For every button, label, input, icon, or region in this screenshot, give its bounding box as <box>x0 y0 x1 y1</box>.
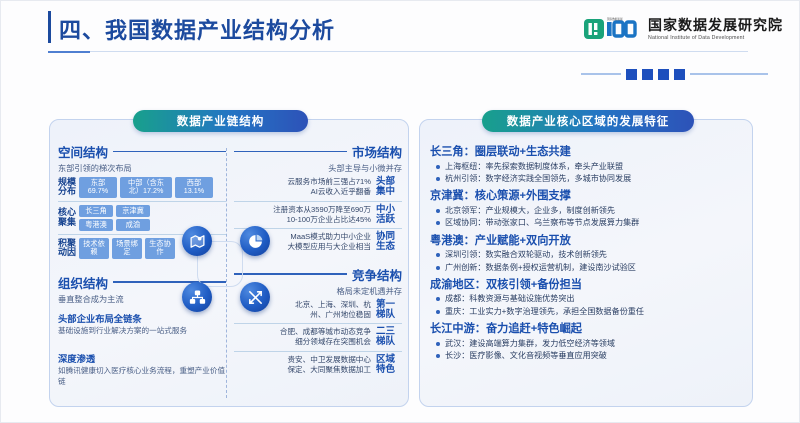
logo-name-cn: 国家数据发展研究院 <box>648 18 783 32</box>
panel-right-badge: 数据产业核心区域的发展特征 <box>482 110 694 132</box>
region-bullet: 重庆：工业实力+数字治理领先，承担全国数据备份重任 <box>436 306 744 317</box>
competition-row-line: 北京、上海、深圳、杭 <box>295 300 371 310</box>
market-row: 云服务市场前三强占71% AI云收入近乎翻番 头部集中 <box>234 177 402 198</box>
competition-row-line: 保定、大同聚焦数据加工 <box>287 365 371 375</box>
region-bullet-text: 武汉：建设高端算力集群，发力低空经济等领域 <box>445 338 615 349</box>
deco-square <box>658 69 669 80</box>
tag-row-label: 核心聚集 <box>58 208 76 227</box>
org-block-title: 头部企业布局全链条 <box>58 311 226 325</box>
bullet-dot-icon <box>436 266 440 270</box>
bullet-dot-icon <box>436 354 440 358</box>
region-title: 长三角：圈层联动+生态共建 <box>430 143 744 159</box>
bullet-dot-icon <box>436 297 440 301</box>
section-title-spatial: 空间结构 <box>58 142 108 161</box>
region-bullet-text: 杭州引领：数字经济实践全国领先，多城市协同发展 <box>445 173 631 184</box>
section-subtitle-spatial: 东部引领的梯次布局 <box>58 162 226 174</box>
bullet-dot-icon <box>436 165 440 169</box>
competition-row-line: 细分领域存在突围机会 <box>280 337 371 347</box>
section-hrule <box>58 201 226 202</box>
section-header-competition: 竞争结构 <box>234 265 402 284</box>
region-bullet: 上海枢纽：率先探索数据制度体系，牵头产业联盟 <box>436 161 744 172</box>
competition-row: 合肥、成都等城市动态竞争 细分领域存在突围机会 二三梯队 <box>234 327 402 348</box>
tag-chip: 生态协作 <box>145 238 175 259</box>
market-row-line: MaaS模式助力中小企业 <box>287 232 371 242</box>
region-bullet: 武汉：建设高端算力集群，发力低空经济等领域 <box>436 338 744 349</box>
org-chart-icon[interactable] <box>182 282 212 312</box>
decorative-squares <box>581 63 796 85</box>
region-bullet-text: 重庆：工业实力+数字治理领先，承担全国数据备份重任 <box>445 306 644 317</box>
region-block: 京津冀：核心策源+外围支撑 北京领军：产业规模大，企业多，制度创新领先 区域协同… <box>430 187 744 228</box>
bullet-dot-icon <box>436 342 440 346</box>
bullet-dot-icon <box>436 310 440 314</box>
tag-row-label: 规模分布 <box>58 178 76 197</box>
section-title-organization: 组织结构 <box>58 273 108 292</box>
tag-chip: 东部 69.7% <box>79 177 117 198</box>
competition-row-tag: 二三梯队 <box>376 327 402 348</box>
deco-line-left <box>581 73 621 75</box>
market-row-tag: 协同生态 <box>376 232 402 253</box>
region-block: 粤港澳：产业赋能+双向开放 深圳引领：数实融合双轮驱动，技术创新领先 广州创新：… <box>430 232 744 273</box>
market-row-tag: 中小活跃 <box>376 205 402 226</box>
tag-chip: 中部（含东北）17.2% <box>120 177 172 198</box>
market-row-text: 注册资本从3590万降至690万 10-100万企业占比达45% <box>273 205 371 226</box>
section-rule <box>234 273 347 275</box>
bullet-dot-icon <box>436 177 440 181</box>
section-rule <box>234 151 347 153</box>
panel-right-content: 长三角：圈层联动+生态共建 上海枢纽：率先探索数据制度体系，牵头产业联盟 杭州引… <box>430 140 744 362</box>
region-title: 长江中游：奋力追赶+特色崛起 <box>430 320 744 336</box>
header-divider <box>48 51 748 52</box>
title-accent-bar <box>48 11 51 43</box>
slide-canvas: 四、我国数据产业结构分析 国家数据发展 国家数据发展研究院 National I… <box>0 0 800 423</box>
market-row-text: 云服务市场前三强占71% AI云收入近乎翻番 <box>287 177 371 198</box>
competition-row-text: 合肥、成都等城市动态竞争 细分领域存在突围机会 <box>280 327 371 348</box>
section-hrule <box>234 323 402 324</box>
competition-row-text: 贵安、中卫发展数据中心 保定、大同聚焦数据加工 <box>287 355 371 376</box>
region-bullet: 成都：科教资源与基础设施优势突出 <box>436 293 744 304</box>
section-header-market: 市场结构 <box>234 142 402 161</box>
tag-chip: 粤港澳 <box>79 219 113 231</box>
deco-square <box>674 69 685 80</box>
org-block-title: 深度渗透 <box>58 351 226 365</box>
region-bullet-text: 北京领军：产业规模大，企业多，制度创新领先 <box>445 205 615 216</box>
bullet-dot-icon <box>436 253 440 257</box>
region-bullet: 广州创新：数据条例+授权运营机制，建设南沙试验区 <box>436 262 744 273</box>
bullet-dot-icon <box>436 209 440 213</box>
competition-row-tag: 区域特色 <box>376 355 402 376</box>
deco-line-right <box>690 73 768 75</box>
competition-row-line: 贵安、中卫发展数据中心 <box>287 355 371 365</box>
region-block: 长江中游：奋力追赶+特色崛起 武汉：建设高端算力集群，发力低空经济等领域 长沙：… <box>430 320 744 361</box>
region-bullet-text: 长沙：医疗影像、文化音视频等垂直应用突破 <box>445 350 607 361</box>
org-block-text: 如腾讯健康切入医疗核心业务流程，重塑产业价值链 <box>58 366 226 387</box>
region-bullet-text: 上海枢纽：率先探索数据制度体系，牵头产业联盟 <box>445 161 623 172</box>
market-row-line: 10-100万企业占比达45% <box>273 215 371 225</box>
logo-name-en: National Institute of Data Development <box>648 35 783 41</box>
market-row-line: 云服务市场前三强占71% <box>287 177 371 187</box>
section-title-market: 市场结构 <box>352 142 402 161</box>
tag-chip: 技术依赖 <box>79 238 109 259</box>
market-row-line: 大模型应用与大企业相当 <box>287 242 371 252</box>
section-title-competition: 竞争结构 <box>352 265 402 284</box>
section-hrule <box>234 201 402 202</box>
header-divider-accent <box>48 51 90 53</box>
region-title: 粤港澳：产业赋能+双向开放 <box>430 232 744 248</box>
compete-arrows-icon[interactable] <box>240 282 270 312</box>
region-block: 成渝地区：双核引领+备份担当 成都：科教资源与基础设施优势突出 重庆：工业实力+… <box>430 276 744 317</box>
map-location-icon[interactable] <box>182 226 212 256</box>
slide-header: 四、我国数据产业结构分析 国家数据发展 国家数据发展研究院 National I… <box>1 1 800 59</box>
market-row-line: 注册资本从3590万降至690万 <box>273 205 371 215</box>
competition-row-tag: 第一梯队 <box>376 300 402 321</box>
market-row-line: AI云收入近乎翻番 <box>287 187 371 197</box>
pie-chart-icon[interactable] <box>240 226 270 256</box>
section-hrule <box>234 351 402 352</box>
section-header-spatial: 空间结构 <box>58 142 226 161</box>
region-bullet: 杭州引领：数字经济实践全国领先，多城市协同发展 <box>436 173 744 184</box>
region-bullet: 深圳引领：数实融合双轮驱动，技术创新领先 <box>436 249 744 260</box>
tag-row-scale-distribution: 规模分布 东部 69.7% 中部（含东北）17.2% 西部 13.1% <box>58 177 226 198</box>
competition-row-text: 北京、上海、深圳、杭 州、广州地位稳固 <box>295 300 371 321</box>
region-bullet: 长沙：医疗影像、文化音视频等垂直应用突破 <box>436 350 744 361</box>
region-block: 长三角：圈层联动+生态共建 上海枢纽：率先探索数据制度体系，牵头产业联盟 杭州引… <box>430 143 744 184</box>
panel-left-badge: 数据产业链结构 <box>133 110 308 132</box>
region-bullet: 区域协同：带动张家口、乌兰察布等节点发展算力集群 <box>436 217 744 228</box>
section-subtitle-market: 头部主导与小微并存 <box>234 162 402 174</box>
org-block-text: 基础设施到行业解决方案的一站式服务 <box>58 326 226 337</box>
region-title: 成渝地区：双核引领+备份担当 <box>430 276 744 292</box>
tag-chip: 西部 13.1% <box>175 177 213 198</box>
competition-row-line: 州、广州地位稳固 <box>295 310 371 320</box>
page-title: 四、我国数据产业结构分析 <box>59 13 335 45</box>
competition-row: 贵安、中卫发展数据中心 保定、大同聚焦数据加工 区域特色 <box>234 355 402 376</box>
region-bullet-text: 广州创新：数据条例+授权运营机制，建设南沙试验区 <box>445 262 636 273</box>
organization-logo: 国家数据发展 国家数据发展研究院 National Institute of D… <box>584 11 783 47</box>
tag-chip: 京津冀 <box>116 205 150 217</box>
column-market-and-competition: 市场结构 头部主导与小微并存 云服务市场前三强占71% AI云收入近乎翻番 头部… <box>234 142 402 377</box>
region-bullet-text: 区域协同：带动张家口、乌兰察布等节点发展算力集群 <box>445 217 639 228</box>
section-rule <box>113 151 226 153</box>
deco-square <box>626 69 637 80</box>
market-row-text: MaaS模式助力中小企业 大模型应用与大企业相当 <box>287 232 371 253</box>
tag-chip: 长三角 <box>79 205 113 217</box>
market-row-tag: 头部集中 <box>376 177 402 198</box>
bullet-dot-icon <box>436 221 440 225</box>
svg-text:国家数据发展: 国家数据发展 <box>607 17 623 21</box>
region-title: 京津冀：核心策源+外围支撑 <box>430 187 744 203</box>
panel-core-region-features: 数据产业核心区域的发展特征 长三角：圈层联动+生态共建 上海枢纽：率先探索数据制… <box>419 119 753 407</box>
deco-square <box>642 69 653 80</box>
tag-chip: 场景绑定 <box>112 238 142 259</box>
tag-chip: 成渝 <box>116 219 150 231</box>
tag-row-label: 积聚动因 <box>58 239 76 258</box>
region-bullet: 北京领军：产业规模大，企业多，制度创新领先 <box>436 205 744 216</box>
competition-row-line: 合肥、成都等城市动态竞争 <box>280 327 371 337</box>
region-bullet-text: 深圳引领：数实融合双轮驱动，技术创新领先 <box>445 249 607 260</box>
market-row: 注册资本从3590万降至690万 10-100万企业占比达45% 中小活跃 <box>234 205 402 226</box>
region-bullet-text: 成都：科教资源与基础设施优势突出 <box>445 293 575 304</box>
panel-left-content: 空间结构 东部引领的梯次布局 规模分布 东部 69.7% 中部（含东北）17.2… <box>50 142 408 406</box>
panel-industry-chain-structure: 数据产业链结构 空间结构 东部引领的梯次布局 规模分布 东部 69.7% 中部（… <box>49 119 409 407</box>
logo-mark-icon: 国家数据发展 <box>584 16 642 42</box>
